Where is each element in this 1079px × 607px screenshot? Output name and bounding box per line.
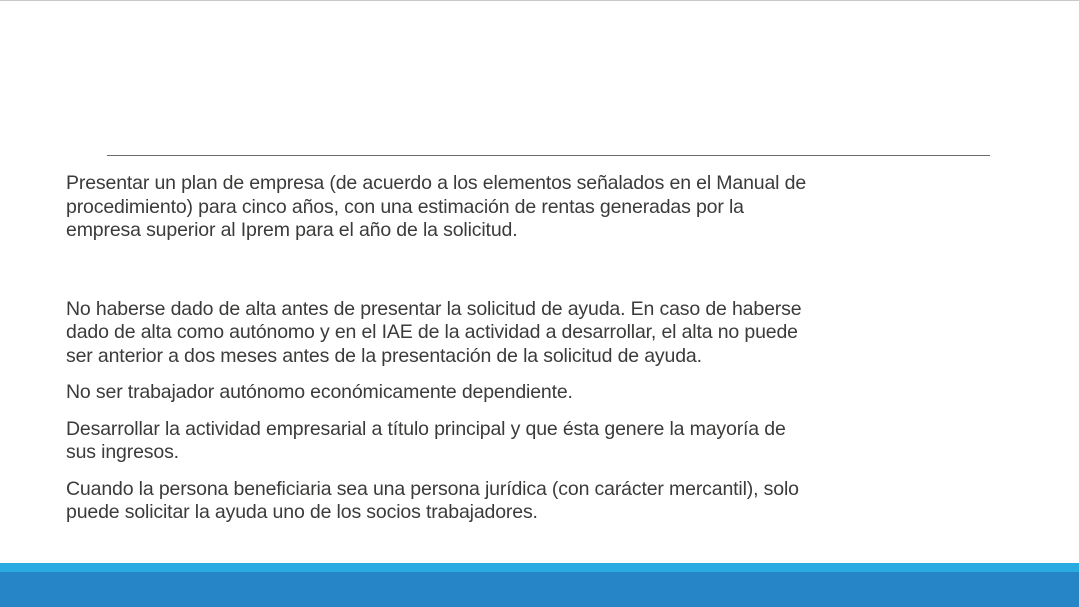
- footer-band-dark: [0, 572, 1079, 607]
- title-divider: [107, 155, 990, 156]
- paragraph-persona-juridica: Cuando la persona beneficiaria sea una p…: [66, 478, 816, 525]
- paragraph-actividad-titulo-principal: Desarrollar la actividad empresarial a t…: [66, 418, 816, 465]
- top-edge-divider: [0, 0, 1079, 1]
- body-text-block: Presentar un plan de empresa (de acuerdo…: [66, 172, 816, 525]
- paragraph-alta-previa: No haberse dado de alta antes de present…: [66, 298, 816, 369]
- footer-band-light: [0, 563, 1079, 572]
- slide: Presentar un plan de empresa (de acuerdo…: [0, 0, 1079, 607]
- paragraph-plan-de-empresa: Presentar un plan de empresa (de acuerdo…: [66, 172, 816, 243]
- paragraph-trabajador-dependiente: No ser trabajador autónomo económicament…: [66, 381, 816, 405]
